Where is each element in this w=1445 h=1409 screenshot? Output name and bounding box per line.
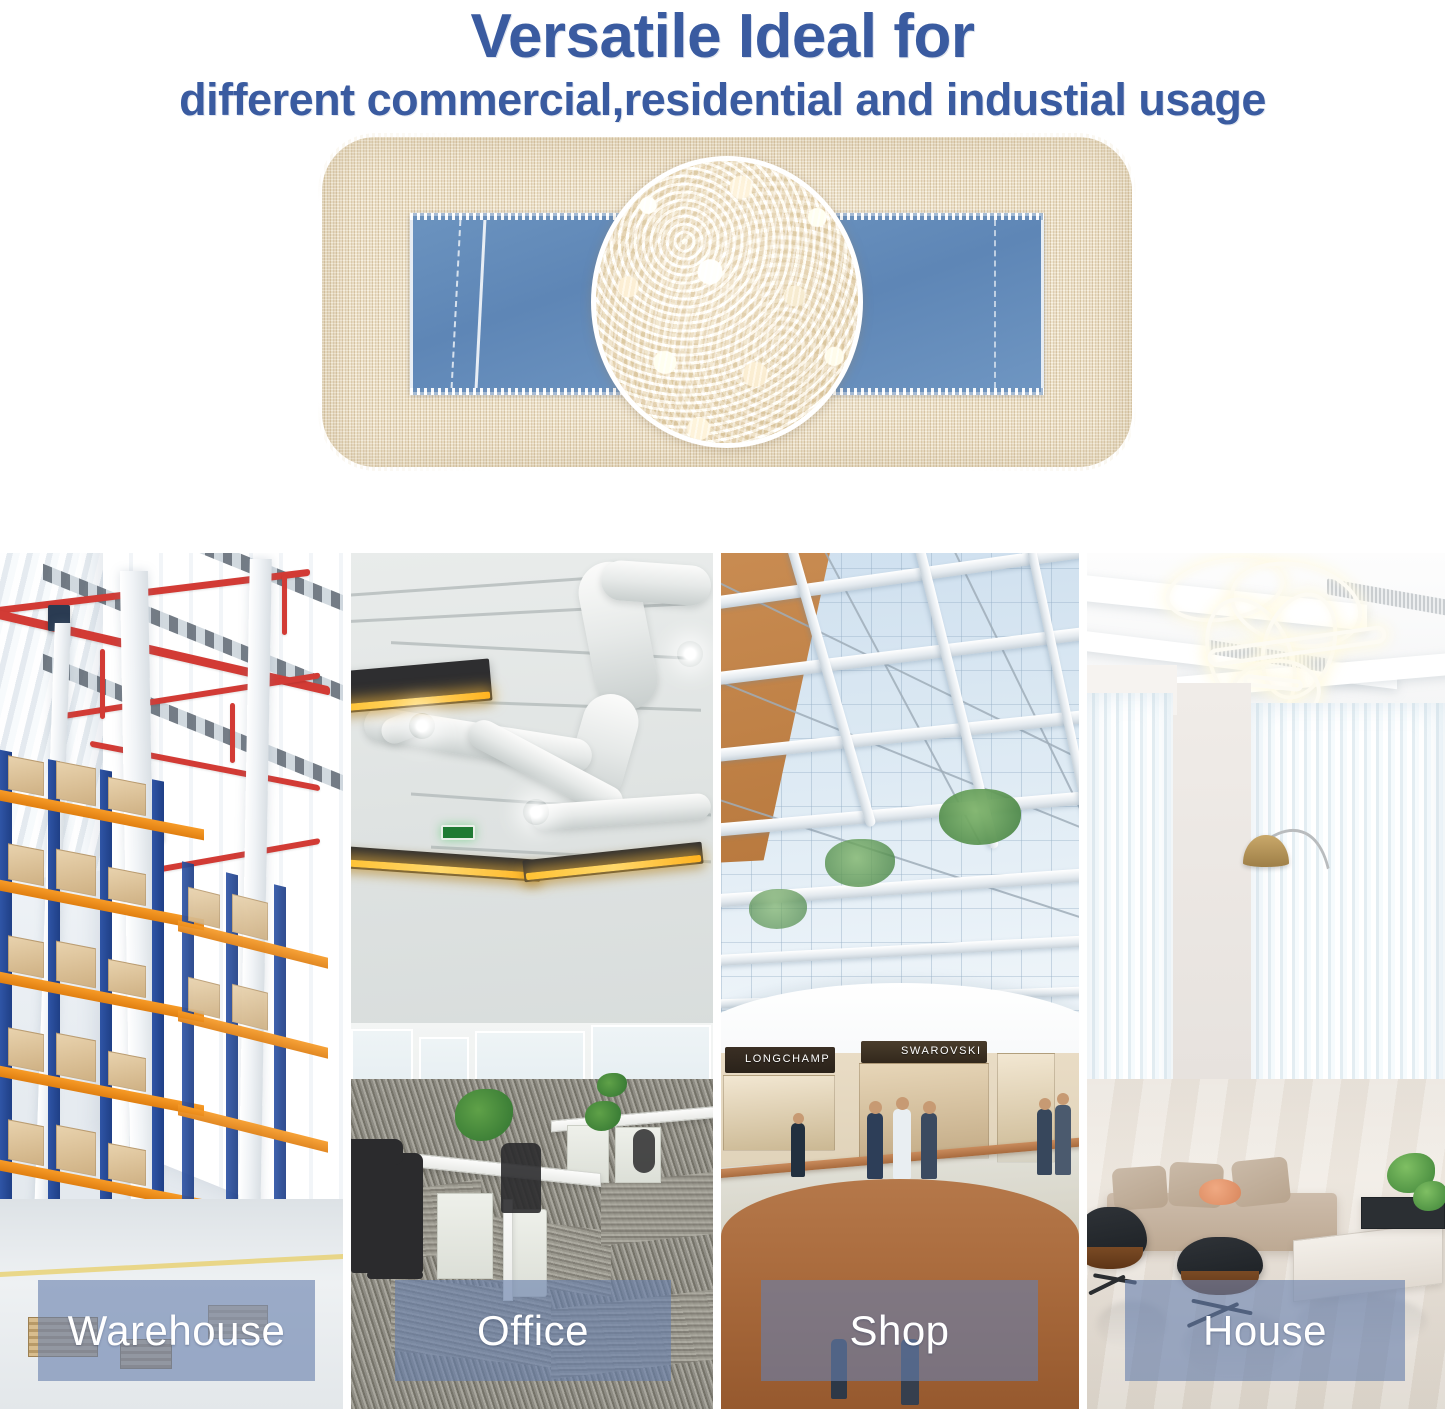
teddy-bear [1199, 1179, 1241, 1205]
caption-shop: Shop [761, 1280, 1038, 1381]
storefront-label-longchamp: LONGCHAMP [745, 1053, 830, 1065]
page-subheadline: different commercial,residential and ind… [0, 75, 1445, 125]
panel-shop: LONGCHAMP SWAROVSKI Shop [721, 553, 1079, 1409]
caption-label-shop: Shop [849, 1310, 949, 1352]
panel-warehouse: Warehouse [0, 553, 343, 1409]
header: Versatile Ideal for different commercial… [0, 0, 1445, 125]
caption-office: Office [395, 1280, 671, 1381]
hero-product-image [0, 125, 1445, 497]
use-case-panels: Warehouse [0, 553, 1445, 1409]
caption-house: House [1125, 1280, 1405, 1381]
caption-label-warehouse: Warehouse [68, 1310, 286, 1352]
caption-warehouse: Warehouse [38, 1280, 315, 1381]
yarn-closeup-circle [591, 156, 863, 448]
caption-label-house: House [1203, 1310, 1327, 1352]
storefront-label-swarovski: SWAROVSKI [901, 1045, 982, 1057]
page-headline: Versatile Ideal for [0, 4, 1445, 69]
panel-house: House [1087, 553, 1445, 1409]
panel-office: Office [351, 553, 713, 1409]
caption-label-office: Office [477, 1310, 589, 1352]
mop-pad [322, 137, 1132, 467]
exit-sign-icon [441, 825, 475, 840]
yarn-loop-texture [591, 156, 863, 448]
